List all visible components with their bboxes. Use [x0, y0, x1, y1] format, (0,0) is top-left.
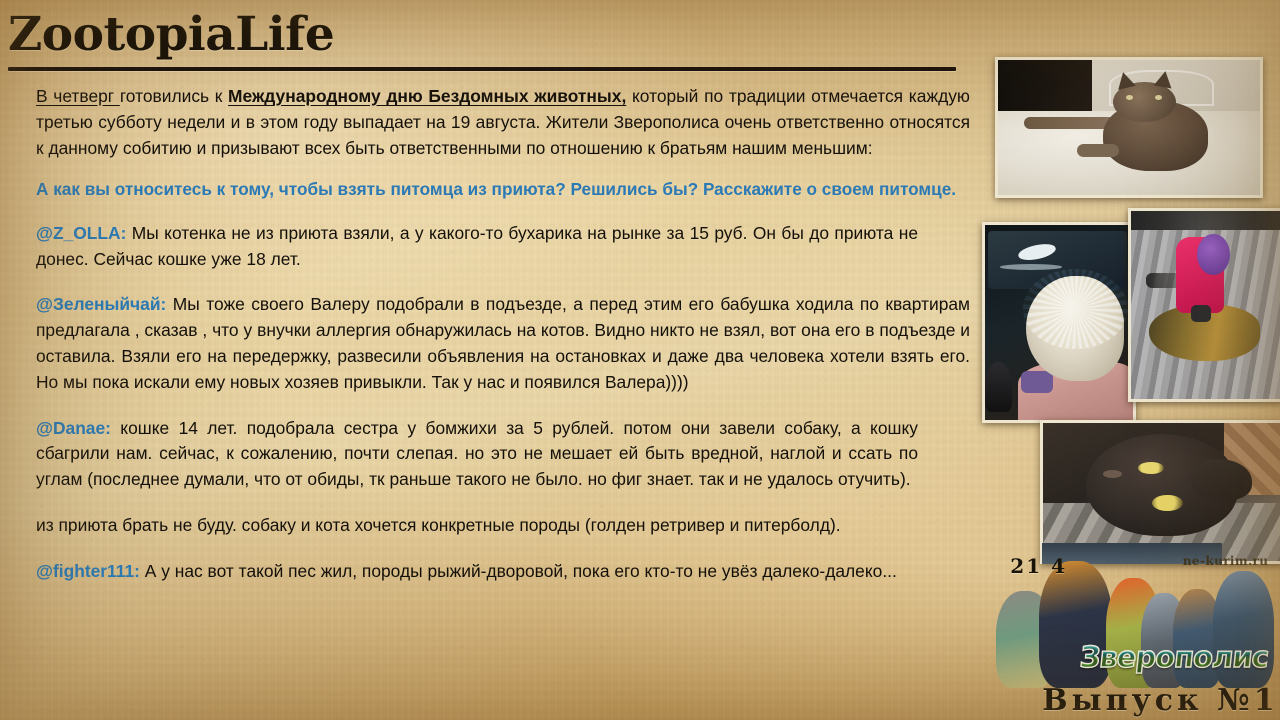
article-body: В четверг готовились к Международному дн…: [36, 84, 970, 585]
purple-hat-shape: [1197, 234, 1230, 275]
comment-2: @Зеленыйчай: Мы тоже своего Валеру подоб…: [36, 292, 970, 395]
comment-2-nick[interactable]: @Зеленыйчай:: [36, 294, 166, 314]
page-title: ZootopiaLife: [8, 8, 956, 62]
slide-canvas: ZootopiaLife В четверг готовились к Межд…: [0, 0, 1280, 720]
doorway-shape: [998, 60, 1092, 114]
comment-1-text: Мы котенка не из приюта взяли, а у каког…: [36, 223, 918, 269]
photo-white-shaggy-dog-in-car: [982, 222, 1136, 423]
banner-artwork: 21 4 ne-kurim.ru Зверополис Выпуск №1: [990, 543, 1280, 720]
zootopia-banner: 21 4 ne-kurim.ru Зверополис Выпуск №1: [990, 543, 1280, 720]
lead-underlined-date: В четверг: [36, 86, 120, 106]
photo-tabby-cat-on-bed: [995, 57, 1263, 198]
boot-shape: [1191, 305, 1211, 322]
comment-5-nick[interactable]: @fighter111:: [36, 561, 140, 581]
comment-1: @Z_OLLA: Мы котенка не из приюта взяли, …: [36, 221, 918, 273]
photo-child-in-pink-with-dog-on-snow: [1128, 208, 1280, 402]
comment-3-text: кошке 14 лет. подобрала сестра у бомжихи…: [36, 418, 918, 490]
banner-date: 21 4: [1010, 554, 1067, 578]
comment-1-nick[interactable]: @Z_OLLA:: [36, 223, 126, 243]
cat-paw-shape: [1077, 144, 1119, 158]
comment-3: @Danae: кошке 14 лет. подобрала сестра у…: [36, 416, 918, 493]
cat-eye-upper-shape: [1138, 462, 1164, 474]
lead-text-a: готовились к: [120, 86, 228, 106]
zootopia-logo-text: Зверополис: [1078, 640, 1270, 674]
masthead-divider: [8, 67, 956, 71]
lead-bold-event: Международному дню Бездомных животных,: [228, 86, 626, 106]
comment-5: @fighter111: А у нас вот такой пес жил, …: [36, 559, 918, 585]
comment-3-nick[interactable]: @Danae:: [36, 418, 111, 438]
comment-5-text: А у нас вот такой пес жил, породы рыжий-…: [140, 561, 897, 581]
masthead: ZootopiaLife: [8, 8, 956, 71]
comment-4-text: из приюта брать не буду. собаку и кота х…: [36, 515, 841, 535]
issue-label: Выпуск №1: [1042, 683, 1278, 718]
gear-shifter-shape: [985, 362, 1012, 413]
comment-4: из приюта брать не буду. собаку и кота х…: [36, 513, 918, 539]
lead-paragraph: В четверг готовились к Международному дн…: [36, 84, 970, 161]
watermark: ne-kurim.ru: [1183, 554, 1269, 568]
purple-band-shape: [1021, 371, 1054, 392]
comment-2-text: Мы тоже своего Валеру подобрали в подъез…: [36, 294, 970, 391]
cat-ear-right-shape: [1154, 69, 1175, 88]
question-prompt: А как вы относитесь к тому, чтобы взять …: [36, 177, 970, 203]
window-glint-secondary-shape: [1000, 264, 1062, 270]
cat-nose-shape: [1103, 470, 1122, 478]
dog-fur-shape: [1026, 276, 1124, 381]
